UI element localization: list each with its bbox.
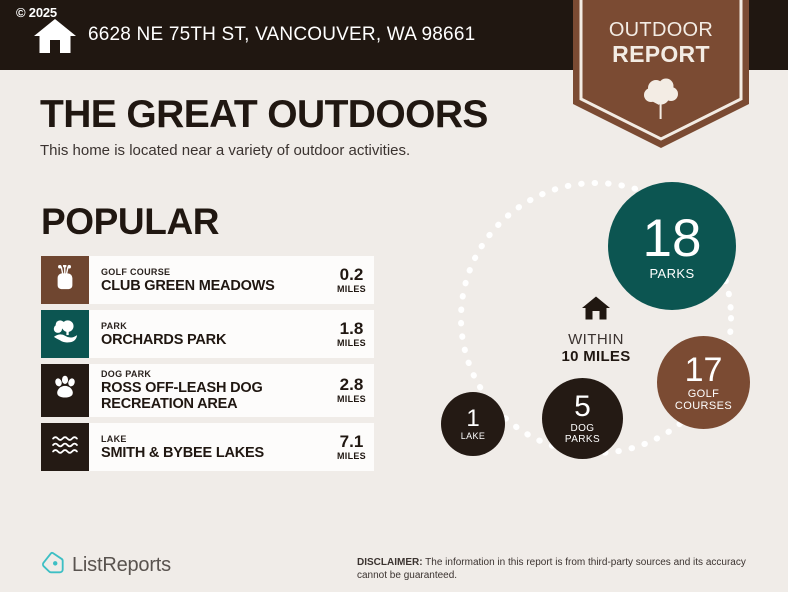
list-item-distance-value: 2.8 xyxy=(337,376,366,394)
list-item[interactable]: PARK ORCHARDS PARK 1.8 MILES xyxy=(41,310,374,358)
diagram-center-line2: 10 MILES xyxy=(531,348,661,365)
list-item-icon-tile xyxy=(41,364,89,417)
outdoor-report-page: © 2025 6628 NE 75TH ST, VANCOUVER, WA 98… xyxy=(0,0,800,600)
page-subtitle: This home is located near a variety of o… xyxy=(40,142,410,159)
list-item-text: GOLF COURSE CLUB GREEN MEADOWS xyxy=(101,267,275,294)
listreports-logo-text: ListReports xyxy=(72,554,171,577)
golf-bag-icon xyxy=(53,265,77,296)
disclaimer-label: DISCLAIMER: xyxy=(357,557,423,568)
bubble-dog-parks-count: 5 xyxy=(574,392,591,422)
badge-title: OUTDOOR REPORT xyxy=(573,18,749,66)
list-item-name: ROSS OFF-LEASH DOG RECREATION AREA xyxy=(101,380,331,412)
bubble-parks-count: 18 xyxy=(643,212,702,265)
list-item-category: GOLF COURSE xyxy=(101,267,275,278)
list-item-distance-unit: MILES xyxy=(337,451,366,462)
popular-list: GOLF COURSE CLUB GREEN MEADOWS 0.2 MILES xyxy=(41,256,374,477)
page-title: THE GREAT OUTDOORS xyxy=(40,93,488,137)
bubble-parks-label: PARKS xyxy=(649,267,694,281)
list-item[interactable]: GOLF COURSE CLUB GREEN MEADOWS 0.2 MILES xyxy=(41,256,374,304)
property-address: 6628 NE 75TH ST, VANCOUVER, WA 98661 xyxy=(88,24,475,46)
badge-title-line2: REPORT xyxy=(573,42,749,66)
list-item-distance: 1.8 MILES xyxy=(331,320,366,349)
list-item-distance-value: 7.1 xyxy=(337,433,366,451)
badge-title-line1: OUTDOOR xyxy=(573,18,749,42)
list-item-category: DOG PARK xyxy=(101,369,331,380)
park-tree-icon xyxy=(52,319,79,349)
bubble-lake[interactable]: 1 LAKE xyxy=(441,392,505,456)
list-item-icon-tile xyxy=(41,256,89,304)
bubble-dog-parks-label-line2: PARKS xyxy=(565,435,600,446)
disclaimer: DISCLAIMER: The information in this repo… xyxy=(357,556,777,582)
report-canvas: © 2025 6628 NE 75TH ST, VANCOUVER, WA 98… xyxy=(0,0,788,592)
diagram-center: WITHIN 10 MILES xyxy=(531,295,661,365)
outdoor-report-badge: OUTDOOR REPORT xyxy=(573,0,749,148)
water-waves-icon xyxy=(51,434,79,461)
bubble-golf-courses[interactable]: 17 GOLF COURSES xyxy=(657,336,750,429)
listreports-house-tag-icon xyxy=(41,551,65,580)
bubble-golf-courses-label-line2: COURSES xyxy=(675,401,732,413)
bubble-parks[interactable]: 18 PARKS xyxy=(608,182,736,310)
list-item-distance-value: 0.2 xyxy=(337,266,366,284)
listreports-logo[interactable]: ListReports xyxy=(41,551,171,580)
bubble-dog-parks-label: DOG PARKS xyxy=(565,424,600,445)
list-item-category: LAKE xyxy=(101,434,264,445)
list-item-icon-tile xyxy=(41,310,89,358)
list-item-body: LAKE SMITH & BYBEE LAKES 7.1 MILES xyxy=(89,423,374,471)
tree-icon xyxy=(643,76,679,120)
list-item-distance: 2.8 MILES xyxy=(331,376,366,405)
list-item-distance-value: 1.8 xyxy=(337,320,366,338)
list-item-category: PARK xyxy=(101,321,226,332)
list-item-icon-tile xyxy=(41,423,89,471)
list-item-text: PARK ORCHARDS PARK xyxy=(101,321,226,348)
list-item-body: DOG PARK ROSS OFF-LEASH DOG RECREATION A… xyxy=(89,364,374,417)
diagram-center-line1: WITHIN xyxy=(531,331,661,348)
list-item-distance: 0.2 MILES xyxy=(331,266,366,295)
list-item-name: ORCHARDS PARK xyxy=(101,332,226,348)
bubble-dog-parks[interactable]: 5 DOG PARKS xyxy=(542,378,623,459)
bubble-golf-courses-label-line1: GOLF xyxy=(675,389,732,401)
list-item-body: GOLF COURSE CLUB GREEN MEADOWS 0.2 MILES xyxy=(89,256,374,304)
list-item-distance: 7.1 MILES xyxy=(331,433,366,462)
list-item-text: LAKE SMITH & BYBEE LAKES xyxy=(101,434,264,461)
list-item-text: DOG PARK ROSS OFF-LEASH DOG RECREATION A… xyxy=(101,369,331,412)
bubble-lake-label: LAKE xyxy=(461,432,486,441)
list-item-name: CLUB GREEN MEADOWS xyxy=(101,278,275,294)
bubble-golf-courses-count: 17 xyxy=(685,353,723,387)
list-item-distance-unit: MILES xyxy=(337,394,366,405)
house-icon xyxy=(531,295,661,326)
list-item-distance-unit: MILES xyxy=(337,338,366,349)
list-item-name: SMITH & BYBEE LAKES xyxy=(101,445,264,461)
bubble-golf-courses-label: GOLF COURSES xyxy=(675,389,732,412)
paw-print-icon xyxy=(52,375,78,406)
amenities-bubble-diagram: 18 PARKS 17 GOLF COURSES 5 DOG PARKS 1 xyxy=(420,170,780,520)
bubble-dog-parks-label-line1: DOG xyxy=(565,424,600,435)
house-icon xyxy=(33,17,77,55)
bubble-lake-count: 1 xyxy=(466,407,479,431)
list-item-distance-unit: MILES xyxy=(337,284,366,295)
list-item[interactable]: DOG PARK ROSS OFF-LEASH DOG RECREATION A… xyxy=(41,364,374,417)
list-item-body: PARK ORCHARDS PARK 1.8 MILES xyxy=(89,310,374,358)
list-item[interactable]: LAKE SMITH & BYBEE LAKES 7.1 MILES xyxy=(41,423,374,471)
popular-heading: POPULAR xyxy=(41,201,219,243)
